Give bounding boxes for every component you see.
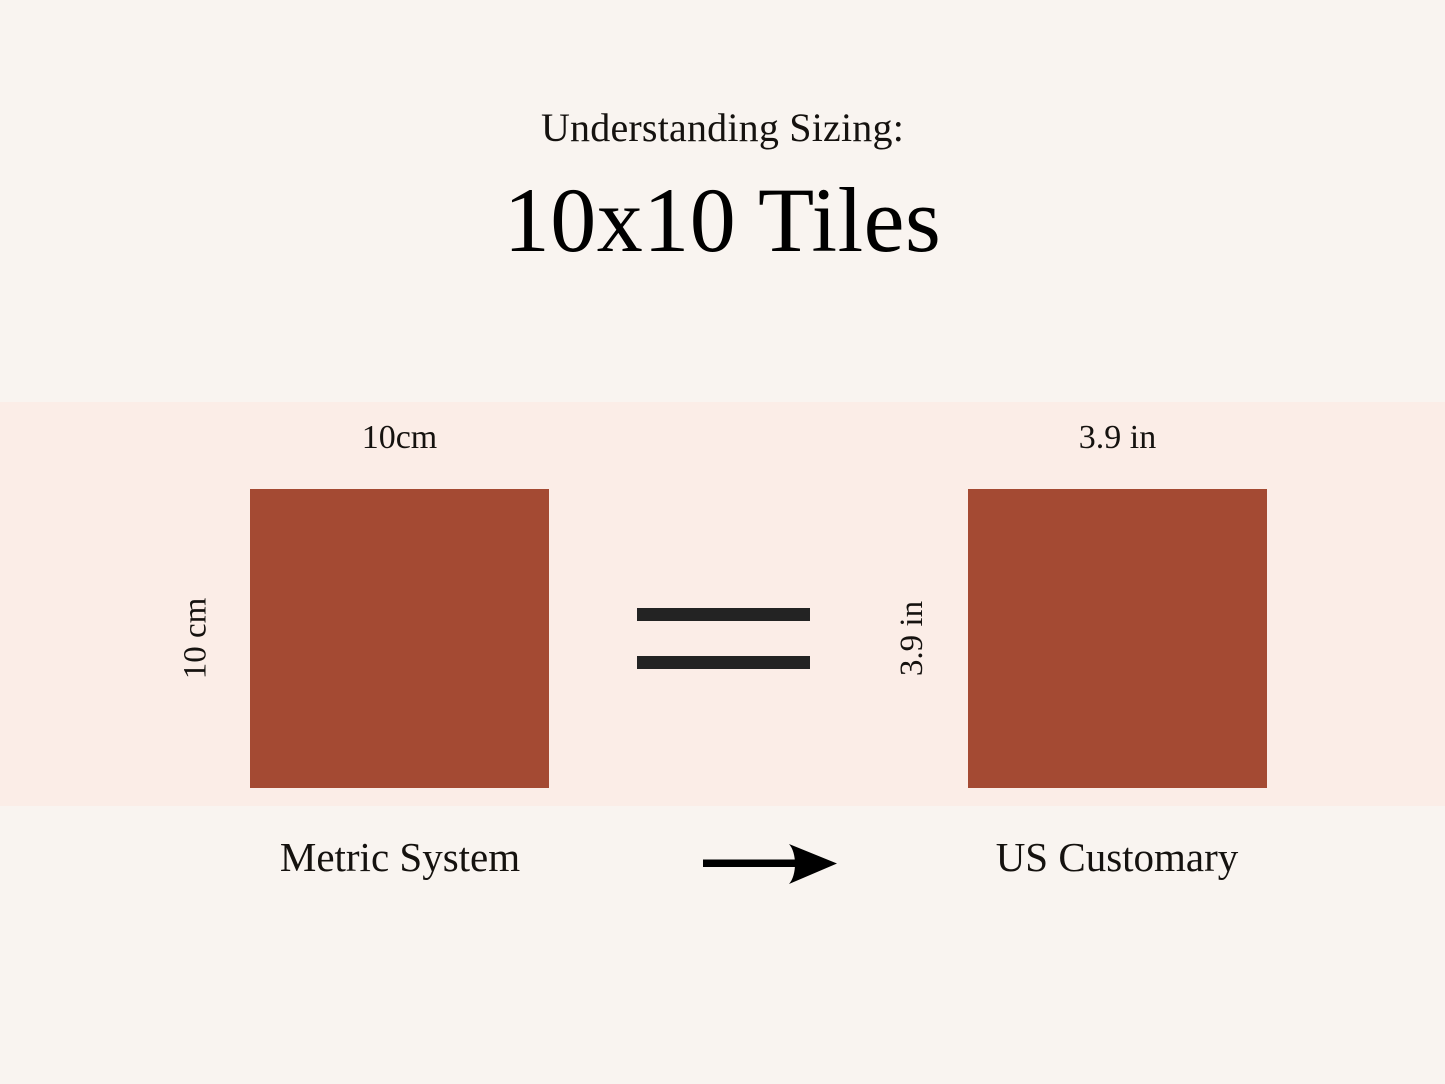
arrow-right-icon	[703, 842, 837, 886]
imperial-tile-swatch	[968, 489, 1267, 788]
sizing-poster: Understanding Sizing: 10x10 Tiles 10cm 1…	[0, 0, 1445, 1084]
eyebrow-text: Understanding Sizing:	[0, 106, 1445, 150]
imperial-side-dimension-text: 3.9 in	[897, 601, 930, 676]
metric-tile-swatch	[250, 489, 549, 788]
imperial-top-dimension-label: 3.9 in	[968, 418, 1267, 459]
metric-side-dimension-text: 10 cm	[180, 598, 213, 680]
imperial-side-dimension-label: 3.9 in	[893, 489, 933, 788]
equals-icon-bar-bottom	[637, 656, 810, 669]
metric-system-label: Metric System	[220, 833, 580, 882]
metric-top-dimension-label: 10cm	[250, 418, 549, 459]
page-title: 10x10 Tiles	[0, 172, 1445, 269]
metric-side-dimension-label: 10 cm	[176, 489, 216, 788]
equals-icon	[637, 608, 810, 668]
imperial-system-label: US Customary	[937, 833, 1297, 882]
equals-icon-bar-top	[637, 608, 810, 621]
